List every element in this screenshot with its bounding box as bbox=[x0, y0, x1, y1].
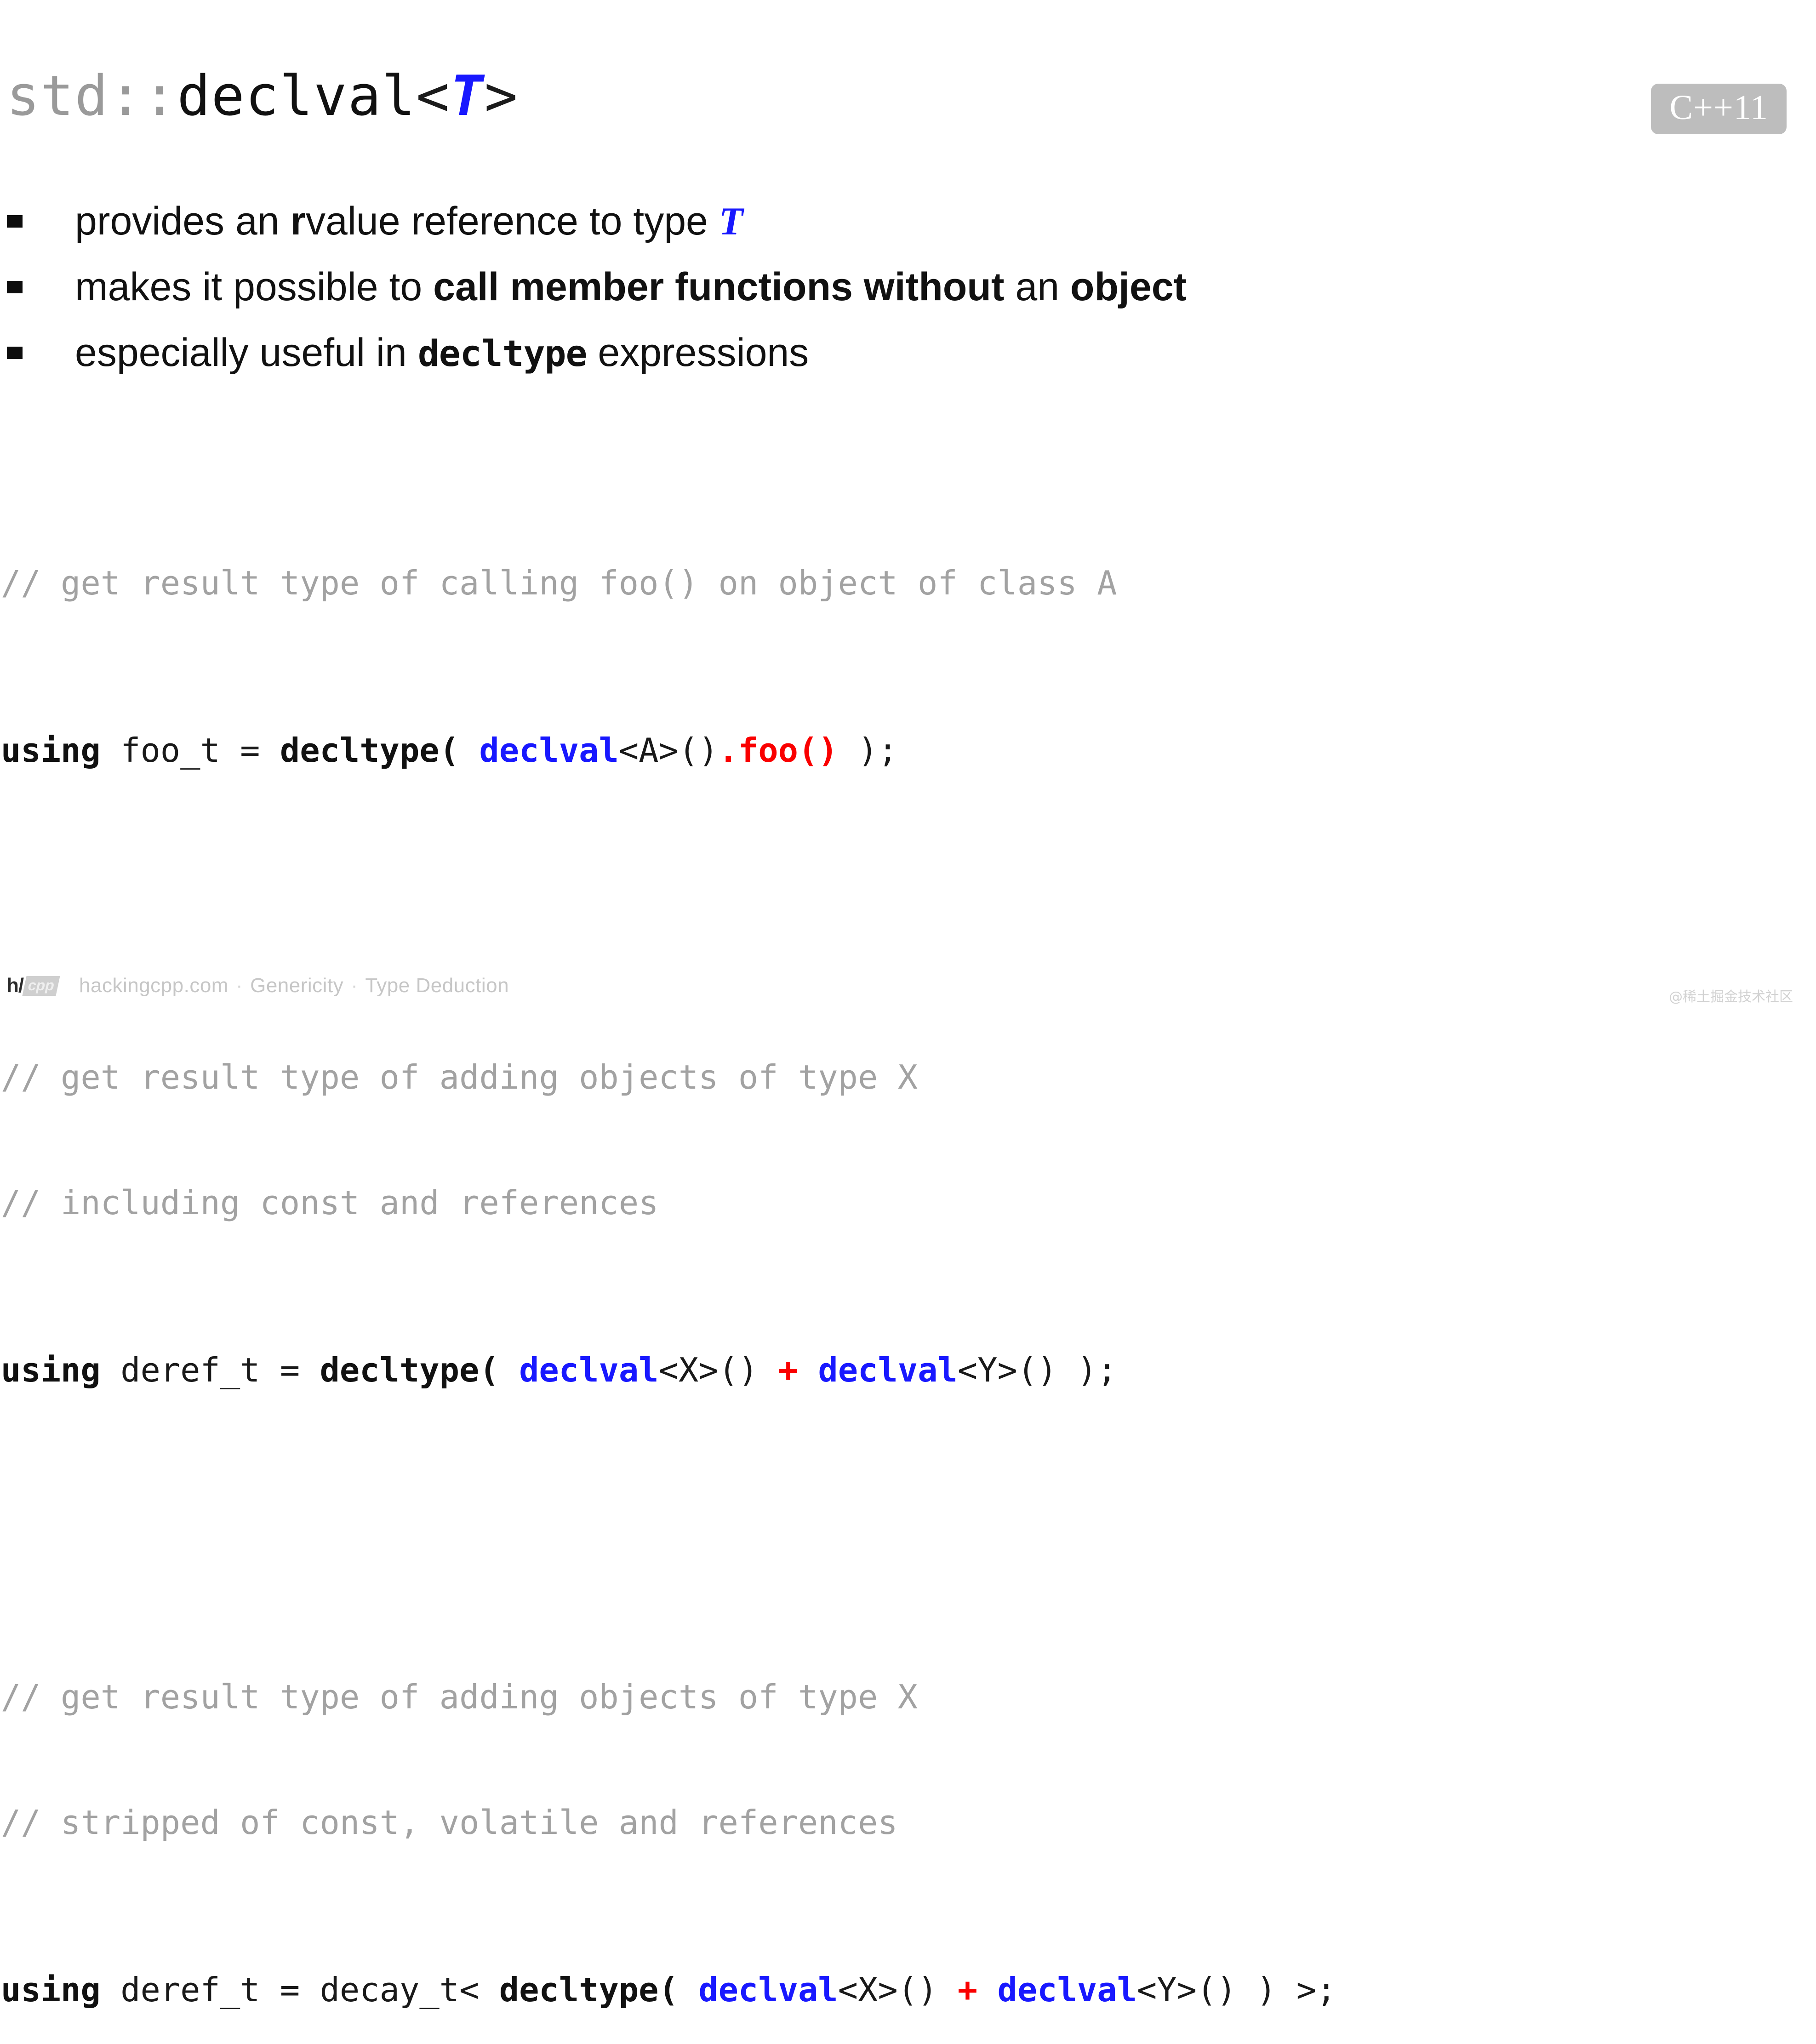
code-token-space bbox=[937, 1970, 957, 2009]
list-item: provides an rvalue reference to type T bbox=[0, 188, 1793, 254]
list-item: especially useful in decltype expression… bbox=[0, 320, 1793, 386]
title-type-param: T bbox=[450, 64, 484, 128]
breadcrumb-site: hackingcpp.com bbox=[79, 974, 228, 997]
bullet-text-2: makes it possible to call member functio… bbox=[75, 254, 1187, 320]
code-comment: // get result type of adding objects of … bbox=[1, 1058, 918, 1096]
title-open-angle: < bbox=[416, 64, 450, 128]
title-close-angle: > bbox=[484, 64, 518, 128]
square-bullet-icon bbox=[7, 281, 23, 293]
code-token-tail: ) >; bbox=[1237, 1970, 1336, 2009]
code-token-declval: declval bbox=[698, 1970, 838, 2009]
code-block: // get result type of calling foo() on o… bbox=[1, 437, 1336, 2044]
code-line: using foo_t = decltype( declval<A>().foo… bbox=[1, 730, 1336, 771]
bullet-1-seg-1: r bbox=[291, 199, 306, 243]
code-token-declval: declval bbox=[997, 1970, 1136, 2009]
square-bullet-icon bbox=[7, 215, 23, 228]
code-token-using: using bbox=[1, 1970, 120, 2009]
code-token-using: using bbox=[1, 731, 120, 770]
code-comment: // get result type of calling foo() on o… bbox=[1, 564, 1117, 602]
code-line-comment: // stripped of const, volatile and refer… bbox=[1, 1802, 1336, 1844]
code-token-space bbox=[798, 1351, 818, 1389]
code-token-targs: <X>() bbox=[659, 1351, 759, 1389]
title-namespace: std:: bbox=[6, 64, 177, 128]
code-line-blank bbox=[1, 1517, 1336, 1551]
code-token-declval: declval bbox=[519, 1351, 658, 1389]
bullet-1-seg-2: value reference to type bbox=[306, 199, 719, 243]
code-token-space bbox=[977, 1970, 997, 2009]
logo-cpp-box: cpp bbox=[23, 976, 60, 996]
status-badge-cpp-standard: C++11 bbox=[1651, 84, 1787, 134]
list-item: makes it possible to call member functio… bbox=[0, 254, 1793, 320]
code-comment: // including const and references bbox=[1, 1183, 658, 1222]
code-token-tail: ); bbox=[838, 731, 898, 770]
breadcrumb-section: Genericity bbox=[250, 974, 343, 997]
breadcrumb-separator: · bbox=[343, 974, 365, 997]
code-token-decltype: decltype( bbox=[499, 1970, 679, 2009]
bullet-2-seg-3: object bbox=[1070, 265, 1187, 309]
code-token-space bbox=[679, 1970, 698, 2009]
code-comment: // stripped of const, volatile and refer… bbox=[1, 1803, 898, 1842]
hackingcpp-logo: h/cpp bbox=[6, 974, 58, 997]
code-token-plus: + bbox=[958, 1970, 977, 2009]
bullet-text-1: provides an rvalue reference to type T bbox=[75, 188, 743, 254]
code-token-declval: declval bbox=[818, 1351, 957, 1389]
code-token-space bbox=[459, 731, 479, 770]
watermark: @稀土掘金技术社区 bbox=[1669, 985, 1793, 1005]
code-token-space bbox=[758, 1351, 778, 1389]
code-token-declval: declval bbox=[479, 731, 618, 770]
code-token-alias-name: deref_t = bbox=[120, 1351, 320, 1389]
bullet-3-seg-0: especially useful in bbox=[75, 331, 418, 375]
bullet-1-seg-3: T bbox=[719, 199, 743, 243]
breadcrumb-separator: · bbox=[228, 974, 250, 997]
bullet-text-3: especially useful in decltype expression… bbox=[75, 320, 809, 387]
code-token-targs: <Y>() bbox=[958, 1351, 1057, 1389]
breadcrumb-topic: Type Deduction bbox=[365, 974, 509, 997]
code-token-targs: <Y>() bbox=[1137, 1970, 1237, 2009]
bullet-1-seg-0: provides an bbox=[75, 199, 291, 243]
code-line-comment: // get result type of adding objects of … bbox=[1, 1676, 1336, 1718]
code-token-plus: + bbox=[778, 1351, 798, 1389]
code-token-tail: ); bbox=[1057, 1351, 1117, 1389]
code-line: using deref_t = decltype( declval<X>() +… bbox=[1, 1349, 1336, 1391]
bullet-list: provides an rvalue reference to type T m… bbox=[0, 188, 1793, 386]
code-token-alias-name: deref_t = bbox=[120, 1970, 320, 2009]
code-token-alias-name: foo_t = bbox=[120, 731, 280, 770]
square-bullet-icon bbox=[7, 347, 23, 359]
code-line-blank bbox=[1, 897, 1336, 931]
logo-h-text: h/ bbox=[6, 974, 23, 997]
footer: h/cpp hackingcpp.com·Genericity·Type Ded… bbox=[6, 974, 509, 997]
code-token-using: using bbox=[1, 1351, 120, 1389]
bullet-2-seg-1: call member functions without bbox=[433, 265, 1004, 309]
code-line-comment: // get result type of adding objects of … bbox=[1, 1056, 1336, 1098]
code-token-decltype: decltype( bbox=[280, 731, 459, 770]
bullet-2-seg-2: an bbox=[1004, 265, 1070, 309]
code-token-targs: <X>() bbox=[838, 1970, 938, 2009]
code-token-space bbox=[499, 1351, 519, 1389]
code-line-comment: // including const and references bbox=[1, 1182, 1336, 1224]
code-line: using deref_t = decay_t< decltype( declv… bbox=[1, 1969, 1336, 2011]
breadcrumb: hackingcpp.com·Genericity·Type Deduction bbox=[79, 974, 509, 997]
page-title: std::declval<T> bbox=[6, 69, 519, 124]
code-token-member-call: .foo() bbox=[719, 731, 838, 770]
title-name: declval bbox=[177, 64, 416, 128]
code-token-decay-t: decay_t< bbox=[320, 1970, 499, 2009]
code-comment: // get result type of adding objects of … bbox=[1, 1678, 918, 1716]
code-token-decltype: decltype( bbox=[320, 1351, 499, 1389]
code-line-comment: // get result type of calling foo() on o… bbox=[1, 562, 1336, 604]
bullet-2-seg-0: makes it possible to bbox=[75, 265, 433, 309]
bullet-3-seg-2: expressions bbox=[587, 331, 809, 375]
code-token-targs: <A>() bbox=[619, 731, 719, 770]
bullet-3-seg-1: decltype bbox=[418, 333, 587, 375]
